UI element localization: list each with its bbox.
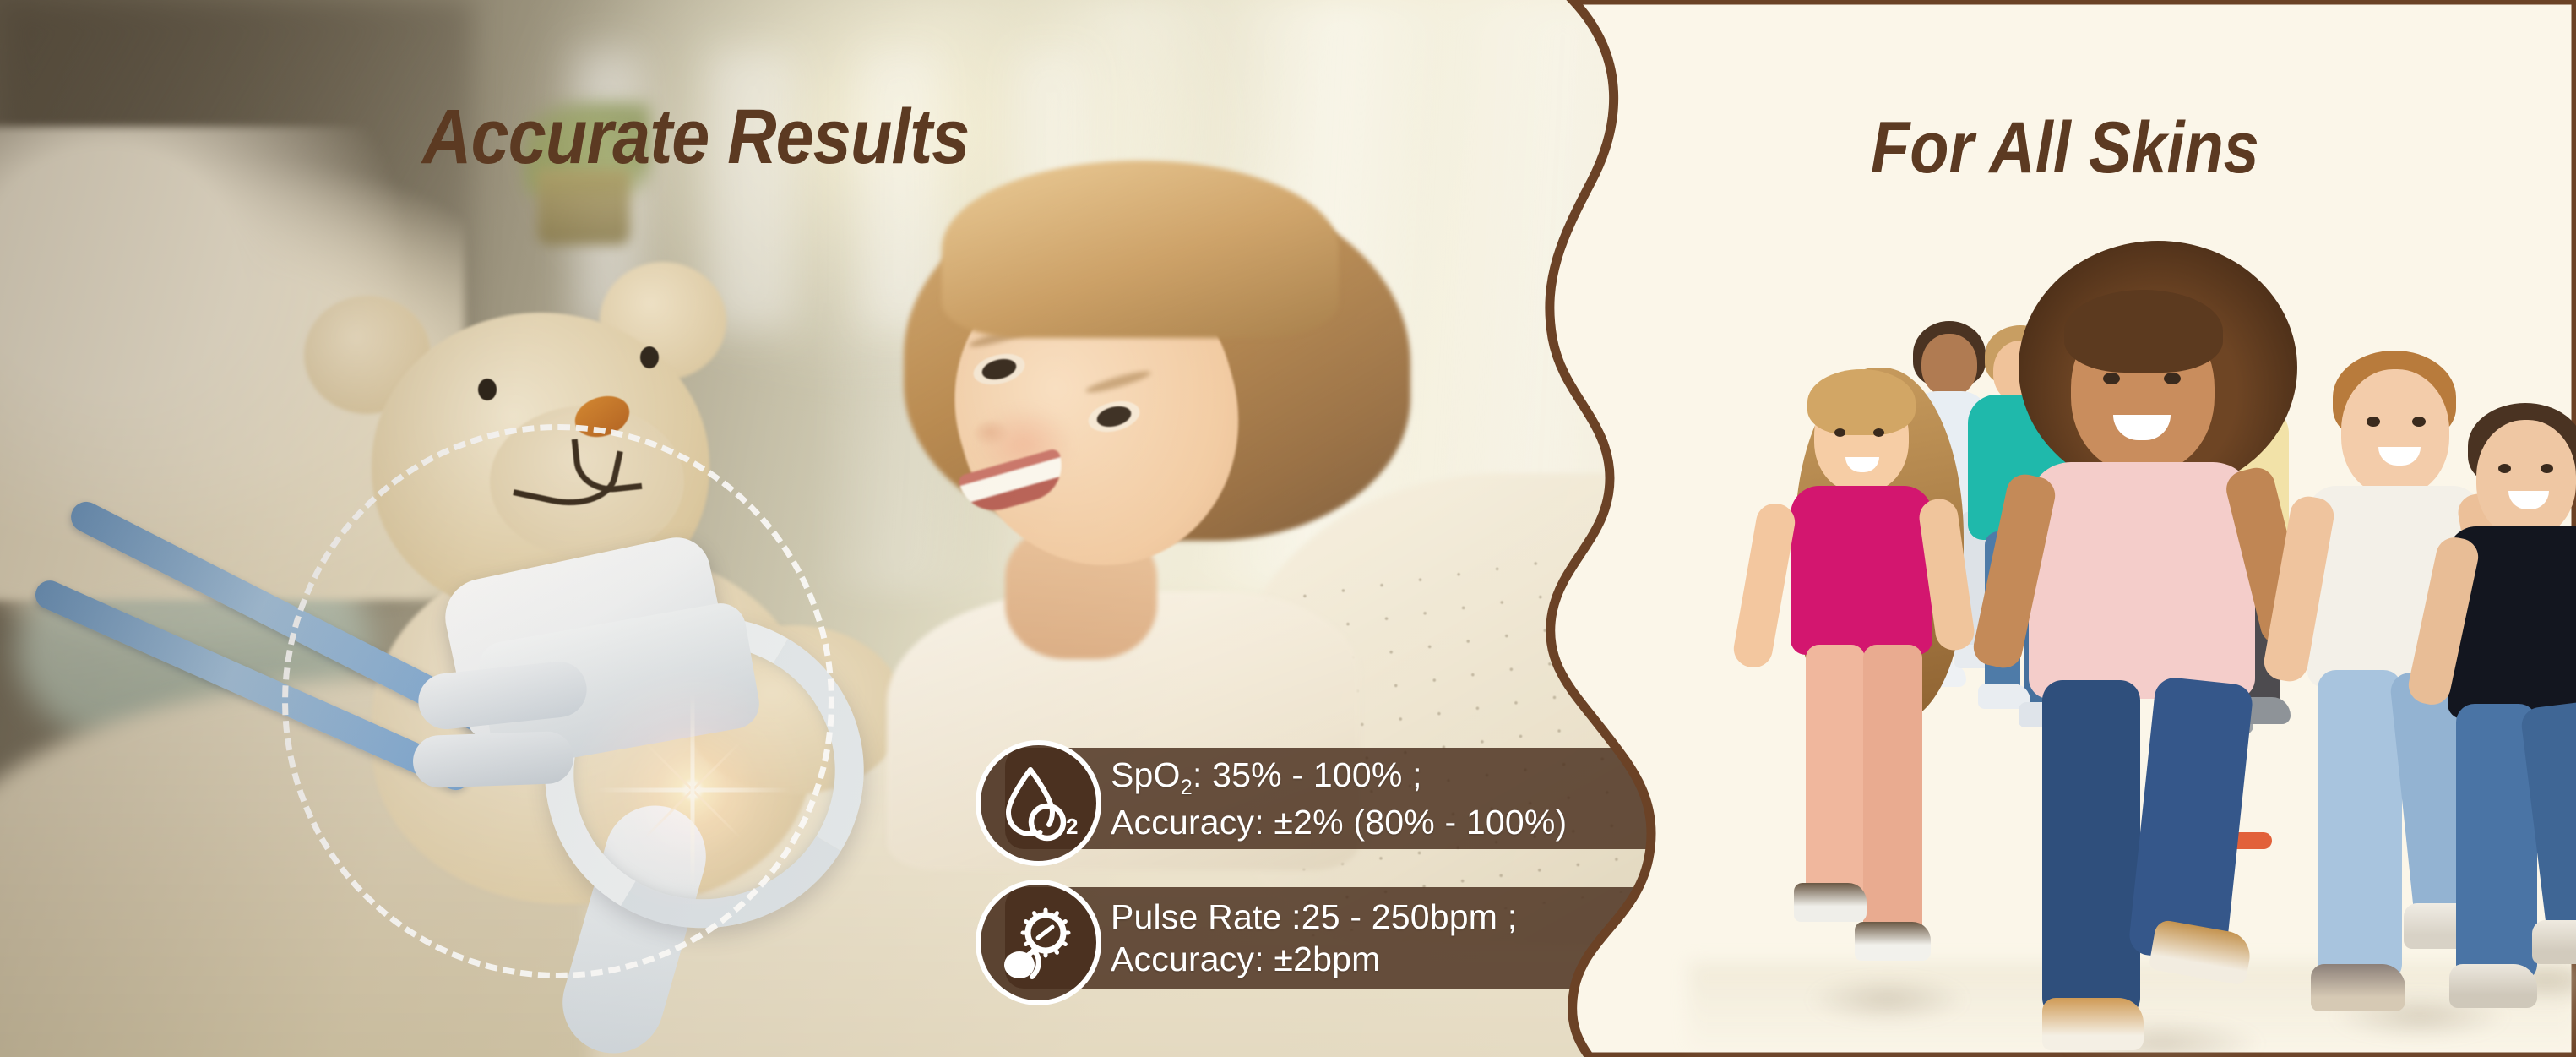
arm-left	[1731, 500, 1797, 670]
shoe-right	[1855, 922, 1931, 961]
head	[2476, 420, 2576, 538]
eye-left	[1834, 428, 1845, 437]
left-headline: Accurate Results	[422, 93, 969, 182]
hair-fringe	[2064, 290, 2223, 373]
shoe-left	[2449, 964, 2537, 1008]
eye-left	[2367, 417, 2380, 427]
shoe-left	[1794, 883, 1867, 922]
shoe-right	[2149, 918, 2254, 985]
eye-right	[1873, 428, 1884, 437]
torso-rose-tshirt	[2029, 462, 2255, 699]
head	[1921, 334, 1977, 396]
eye-right	[2412, 417, 2426, 427]
leg-right	[1863, 645, 1922, 932]
leg-right-jeans	[2128, 676, 2254, 963]
leg-left	[1806, 645, 1865, 898]
right-headline: For All Skins	[1871, 106, 2259, 190]
head	[2341, 369, 2449, 496]
leg-left-lightjeans	[2318, 670, 2402, 983]
leg-left-jeans	[2042, 680, 2140, 1018]
eye-right	[2164, 373, 2181, 384]
shoe-left	[2311, 964, 2405, 1011]
torso-pink-tshirt	[1791, 486, 1932, 655]
shoe-right	[2532, 920, 2576, 964]
shadow	[1807, 976, 1968, 1023]
shoe-left	[2042, 998, 2144, 1050]
children-group-photo	[1706, 241, 2559, 1057]
eye-left	[2103, 373, 2120, 384]
eye-left	[2498, 464, 2511, 473]
eye-right	[2541, 464, 2553, 473]
product-feature-banner: SpO2: 35% - 100% ; Accuracy: ±2% (80% - …	[0, 0, 2576, 1057]
hair-fringe	[1807, 369, 1916, 435]
